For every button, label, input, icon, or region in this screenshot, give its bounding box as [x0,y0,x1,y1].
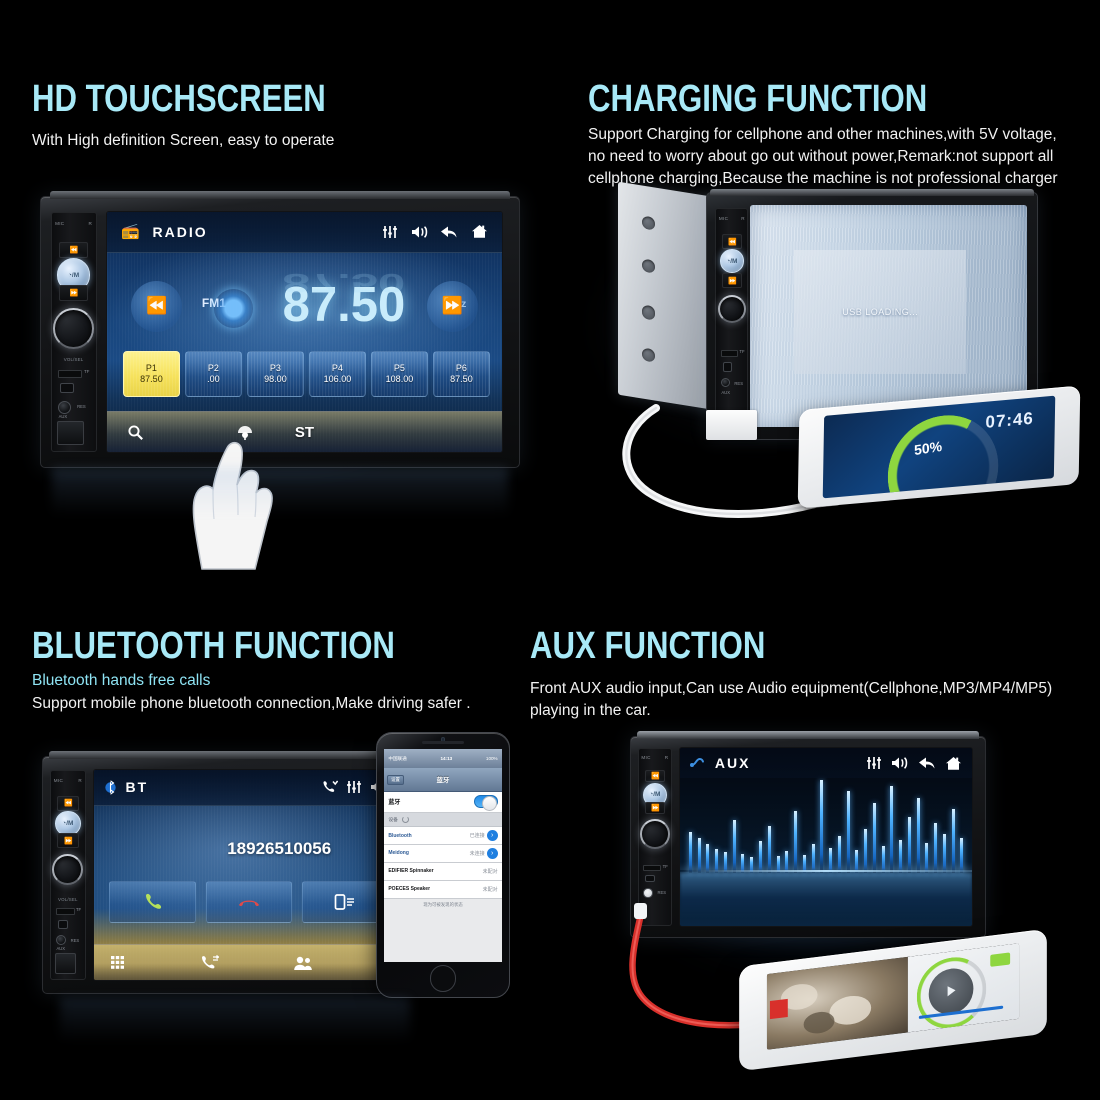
phone-screen: 50% 07:46 [823,396,1055,499]
devices-section-header: 设备 [384,813,503,827]
usb-loading-text: USB LOADING... [842,307,918,317]
back-arrow-icon[interactable] [440,225,458,239]
volume-icon[interactable] [411,225,428,239]
bluetooth-screen-footer [94,944,398,980]
preset-label: P4 [332,363,343,374]
unit-reflection [52,468,508,516]
next-track-icon[interactable]: ⏩ [59,285,87,302]
preset-button-1[interactable]: P1 87.50 [123,351,180,397]
device-status: 未配对 [483,886,498,893]
usb-icon [723,362,732,371]
call-button-row [109,881,388,923]
preset-label: P1 [146,363,157,374]
mic-reset-row: MIC R [55,218,92,230]
panel-aux-description: Front AUX audio input,Can use Audio equi… [530,678,1100,722]
reset-label: R [665,755,669,760]
audio-spectrum-visualizer [680,777,972,873]
incoming-phone-number: 18926510056 [179,839,379,859]
dialpad-icon[interactable] [109,954,126,971]
preset-label: P6 [456,363,467,374]
chevron-right-icon[interactable]: › [487,830,498,841]
battery-charge-ring [887,410,1000,498]
tf-card-slot[interactable] [56,908,75,915]
preset-button-3[interactable]: P3 98.00 [247,351,304,397]
mic-label: MIC [641,755,650,760]
previous-track-icon[interactable]: ⏪ [722,234,742,249]
seek-forward-icon[interactable]: ⏩ [427,281,478,332]
panel-bluetooth-function: BLUETOOTH FUNCTION Bluetooth hands free … [0,550,550,1100]
next-track-icon[interactable]: ⏩ [57,833,78,848]
aux-jack[interactable] [56,935,66,945]
mic-reset-row: MIC R [719,213,745,224]
volume-knob[interactable] [53,308,94,349]
chevron-right-icon[interactable]: › [487,848,498,859]
aux-jack-label: AUX [56,946,65,951]
aux-mode-title: AUX [715,755,751,771]
tf-card-slot[interactable] [643,865,661,871]
device-name: POECES Speaker [388,886,430,892]
equalizer-icon[interactable] [346,780,362,794]
loading-spinner-icon [402,816,409,823]
power-mode-button[interactable]: ◔/M [55,811,80,836]
radio-head-unit: MIC R ⏪ ◔/M ⏩ VOL/SEL TF AUX RES [40,196,520,468]
preset-value: 87.50 [450,374,473,385]
radio-preset-row: P1 87.50 P2 .00 P3 98.00 [123,351,490,397]
home-icon[interactable] [945,756,962,771]
call-answer-icon[interactable] [322,780,338,794]
tf-card-label: TF [663,864,668,869]
tf-card-label: TF [84,369,89,374]
earpiece-speaker [422,741,464,743]
tf-card-slot[interactable] [58,370,83,378]
play-icon [947,986,955,997]
panel-bluetooth-heading: BLUETOOTH FUNCTION [32,625,395,668]
nav-title: 蓝牙 [384,775,503,784]
unit-reflection [60,998,410,1042]
next-track-icon[interactable]: ⏩ [645,802,666,814]
preset-value: 106.00 [324,374,352,385]
preset-value: 87.50 [140,374,163,385]
device-status: 未连接 [470,850,485,857]
radio-icon: 📻 [121,224,140,239]
radio-screen-header: 📻 RADIO [107,212,501,253]
mic-label: MIC [719,216,728,221]
tf-card-label: TF [739,349,744,354]
res-label: RES [71,938,80,943]
radio-mode-title: RADIO [153,224,208,240]
discoverable-hint: 现为可被发现的状态 [384,899,503,911]
usb-icon [58,920,68,929]
res-label: RES [77,404,86,409]
transfer-to-phone-icon [334,893,356,911]
status-time: 14:13 [440,756,452,761]
bluetooth-toggle-label: 蓝牙 [388,797,400,806]
call-log-icon[interactable] [200,954,219,971]
unit-top-lip [50,191,511,199]
usb-icon [60,383,73,393]
volume-icon[interactable] [891,756,908,770]
preset-label: P3 [270,363,281,374]
call-end-icon [237,895,261,909]
volume-knob[interactable] [640,819,670,849]
volume-knob[interactable] [52,854,83,885]
product-feature-collage: HD TOUCHSCREEN With High definition Scre… [0,0,1100,1100]
tf-card-slot[interactable] [721,350,738,357]
power-mode-button[interactable]: ◔/M [720,249,744,273]
volume-knob-label: VOL/SEL [54,897,82,902]
call-answer-button[interactable] [109,881,196,923]
preset-button-6[interactable]: P6 87.50 [433,351,490,397]
preset-label: P2 [208,363,219,374]
volume-knob-label: VOL/SEL [55,357,92,362]
bluetooth-head-unit: MIC R ⏪ ◔/M ⏩ VOL/SEL TF AUX RES [42,756,412,994]
bluetooth-mode-title: BT [126,779,149,795]
aux-jack-plugged[interactable] [643,888,653,898]
usb-port[interactable] [57,421,84,445]
device-status: 未配对 [483,868,498,875]
aux-jack[interactable] [721,378,730,387]
mic-label: MIC [54,778,63,783]
panel-aux-function: AUX FUNCTION Front AUX audio input,Can u… [550,550,1100,1100]
bluetooth-header-icon-group [280,780,387,794]
aux-header-icon-group [837,756,962,771]
res-label: RES [734,381,743,386]
mic-label: MIC [55,221,64,226]
phone-screen [767,944,1019,1050]
res-label: RES [657,890,666,895]
unit-side-control-strip: MIC R ⏪ ◔/M ⏩ TF RES [638,748,672,926]
unit-side-control-strip: MIC R ⏪ ◔/M ⏩ TF AUX RES [715,208,748,424]
preset-button-2[interactable]: P2 .00 [185,351,242,397]
mounting-hole [642,216,655,231]
unit-side-control-strip: MIC R ⏪ ◔/M ⏩ VOL/SEL TF AUX RES [50,770,86,979]
device-row-edifier[interactable]: EDIFIER Spinnaker 未配对 [384,863,503,881]
device-status: 已连接 [470,832,485,839]
preset-label: P5 [394,363,405,374]
device-name: Bluetooth [388,833,411,839]
music-player-panel [908,944,1019,1033]
phone-clock-label: 07:46 [985,408,1034,432]
usb-port[interactable] [55,953,76,974]
device-row-meidong[interactable]: Meidong 未连接 › [384,845,503,863]
reset-label: R [88,221,92,226]
bluetooth-screen-header: BT [94,770,398,806]
panel-hd-heading: HD TOUCHSCREEN [32,78,326,121]
preset-button-4[interactable]: P4 106.00 [309,351,366,397]
mounting-hole [642,348,655,363]
tf-card-label: TF [76,907,81,912]
panel-bluetooth-subtitle: Support mobile phone bluetooth connectio… [32,693,502,715]
home-button[interactable] [430,965,456,991]
iphone-screen[interactable]: 中国联通 14:13 100% 设置 蓝牙 蓝牙 设备 Blue [384,749,503,962]
panel-charging-function: CHARGING FUNCTION Support Charging for c… [550,0,1100,550]
mic-reset-row: MIC R [54,775,82,785]
radio-frequency-reflection: 87.50 [249,268,438,299]
touch-ripple [214,289,253,328]
iphone-bluetooth-settings: 中国联通 14:13 100% 设置 蓝牙 蓝牙 设备 Blue [376,732,510,998]
radio-screen[interactable]: 📻 RADIO [106,211,502,453]
panel-hd-touchscreen: HD TOUCHSCREEN With High definition Scre… [0,0,550,550]
iphone-status-bar: 中国联通 14:13 100% [384,749,503,768]
unit-top-lip [710,189,1033,196]
call-answer-icon [143,892,163,912]
aux-jack[interactable] [58,401,71,414]
preset-value: 98.00 [264,374,287,385]
device-name: EDIFIER Spinnaker [388,868,433,874]
battery-label: 100% [486,756,498,761]
artwork-accent [770,999,788,1019]
device-name: Meidong [388,850,409,856]
device-row-poeces[interactable]: POECES Speaker 未配对 [384,881,503,899]
aux-screen[interactable]: AUX [679,747,973,927]
carrier-label: 中国联通 [388,756,406,762]
album-artwork [767,957,908,1050]
home-icon[interactable] [471,224,488,239]
reset-label: R [78,778,82,783]
device-row-bluetooth[interactable]: Bluetooth 已连接 › [384,827,503,845]
contacts-icon[interactable] [293,955,313,971]
equalizer-icon[interactable] [382,225,398,239]
unit-top-lip [49,751,404,759]
frequency-row: ⏪ FM1 87.50 87.50 MHz ⏩ [107,258,501,354]
radio-header-icon-group [319,224,488,239]
panel-bluetooth-subtitle-cyan: Bluetooth hands free calls [32,670,492,692]
next-track-icon[interactable]: ⏩ [722,273,742,288]
preset-value: .00 [207,374,220,385]
panel-charging-heading: CHARGING FUNCTION [588,78,927,121]
aux-jack-label: AUX [59,414,68,419]
mounting-hole [642,305,655,320]
aux-jack-label: AUX [721,390,730,395]
preset-button-5[interactable]: P5 108.00 [371,351,428,397]
devices-header-label: 设备 [388,816,398,823]
bluetooth-toggle-switch[interactable] [474,795,498,808]
bluetooth-toggle-row[interactable]: 蓝牙 [384,792,503,813]
back-arrow-icon[interactable] [918,756,936,770]
preset-value: 108.00 [386,374,414,385]
volume-knob[interactable] [718,295,746,323]
mounting-hole [642,258,655,273]
status-badge [990,952,1010,967]
previous-track-icon[interactable]: ⏪ [57,796,78,811]
stereo-indicator: ST [107,424,501,441]
radio-screen-footer: ST [107,411,501,452]
panel-charging-description: Support Charging for cellphone and other… [588,124,1058,190]
panel-hd-subtitle: With High definition Screen, easy to ope… [32,130,492,152]
aux-icon [690,756,705,770]
usb-loading-panel: USB LOADING... [794,250,966,374]
iphone-nav-bar: 设置 蓝牙 [384,768,503,791]
previous-track-icon[interactable]: ⏪ [59,242,87,259]
reset-label: R [741,216,745,221]
panel-aux-heading: AUX FUNCTION [530,625,765,668]
previous-track-icon[interactable]: ⏪ [645,770,666,782]
call-end-button[interactable] [206,881,293,923]
seek-backward-icon[interactable]: ⏪ [131,281,182,332]
aux-screen-header: AUX [680,748,972,778]
usb-icon [645,875,655,883]
mic-reset-row: MIC R [641,753,668,762]
equalizer-icon[interactable] [866,756,882,770]
bluetooth-screen[interactable]: BT [93,769,399,981]
bluetooth-icon [105,780,116,795]
unit-side-control-strip: MIC R ⏪ ◔/M ⏩ VOL/SEL TF AUX RES [51,212,97,451]
unit-top-lip [637,731,979,739]
